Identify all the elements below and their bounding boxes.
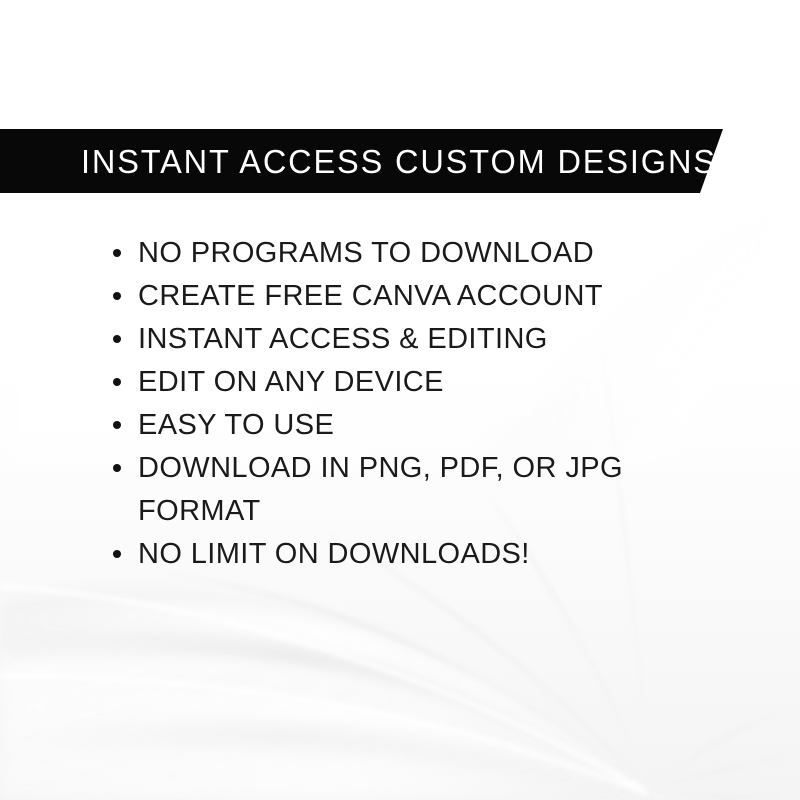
list-item: INSTANT ACCESS & EDITING	[112, 318, 712, 361]
bullet-icon	[113, 378, 121, 386]
page-title: INSTANT ACCESS CUSTOM DESIGNS	[81, 145, 717, 178]
list-item: EDIT ON ANY DEVICE	[112, 361, 712, 404]
list-item-label: NO PROGRAMS TO DOWNLOAD	[138, 232, 712, 275]
bullet-icon	[113, 335, 121, 343]
bullet-icon	[113, 249, 121, 257]
list-item: DOWNLOAD IN PNG, PDF, OR JPG FORMAT	[112, 447, 712, 533]
list-item: EASY TO USE	[112, 404, 712, 447]
list-item-label: CREATE FREE CANVA ACCOUNT	[138, 275, 712, 318]
list-item: NO PROGRAMS TO DOWNLOAD	[112, 232, 712, 275]
bullet-icon	[113, 550, 121, 558]
bullet-icon	[113, 421, 121, 429]
list-item-label: DOWNLOAD IN PNG, PDF, OR JPG FORMAT	[138, 447, 712, 533]
list-item: NO LIMIT ON DOWNLOADS!	[112, 533, 712, 576]
bullet-icon	[113, 464, 121, 472]
list-item-label: EASY TO USE	[138, 404, 712, 447]
list-item-label: INSTANT ACCESS & EDITING	[138, 318, 712, 361]
promo-graphic-canvas: INSTANT ACCESS CUSTOM DESIGNS NO PROGRAM…	[0, 0, 800, 800]
bullet-icon	[113, 292, 121, 300]
list-item: CREATE FREE CANVA ACCOUNT	[112, 275, 712, 318]
list-item-label: EDIT ON ANY DEVICE	[138, 361, 712, 404]
feature-list: NO PROGRAMS TO DOWNLOAD CREATE FREE CANV…	[112, 232, 712, 576]
header-banner: INSTANT ACCESS CUSTOM DESIGNS	[0, 129, 726, 193]
list-item-label: NO LIMIT ON DOWNLOADS!	[138, 533, 712, 576]
